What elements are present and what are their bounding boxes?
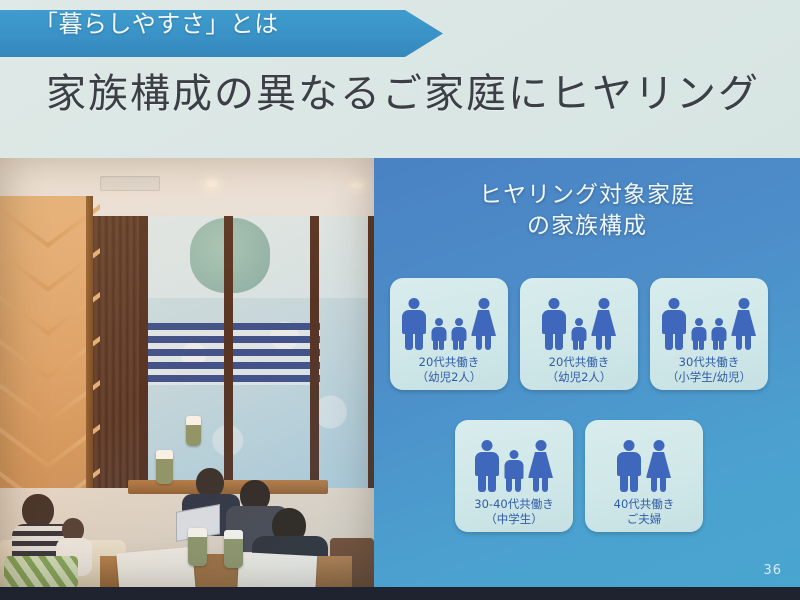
family-pictogram-group <box>617 430 671 492</box>
female-adult-icon <box>528 440 553 492</box>
family-pictogram-group <box>662 288 756 350</box>
female-adult-icon <box>646 440 671 492</box>
family-pictogram-group <box>542 288 616 350</box>
family-composition-panel: ヒヤリング対象家庭 の家族構成 20代共働き （幼児2人） 2 <box>374 158 800 588</box>
slide-bottom-edge <box>0 587 800 600</box>
family-card-label-line-1: 20代共働き <box>417 355 482 370</box>
family-card-label: 30代共働き （小学生/幼児） <box>667 355 751 385</box>
panel-title-line-2: の家族構成 <box>374 211 800 242</box>
family-card: 30-40代共働き （中学生） <box>455 420 573 532</box>
family-card: 40代共働き ご夫婦 <box>585 420 703 532</box>
family-card: 20代共働き （幼児2人） <box>520 278 638 390</box>
section-banner-label: 「暮らしやすさ」とは <box>34 8 279 40</box>
female-adult-icon <box>731 298 756 350</box>
meeting-room-photo <box>0 158 376 588</box>
male-adult-icon <box>662 298 686 350</box>
page-title: 家族構成の異なるご家庭にヒヤリング <box>46 68 760 120</box>
family-card-label-line-2: （小学生/幼児） <box>667 370 751 385</box>
family-card-label-line-1: 40代共働き <box>614 497 675 512</box>
teen-icon <box>504 450 523 492</box>
child-icon <box>451 318 466 350</box>
panel-title: ヒヤリング対象家庭 の家族構成 <box>374 180 800 242</box>
male-adult-icon <box>475 440 499 492</box>
child-icon <box>711 318 726 350</box>
family-card-label-line-2: （幼児2人） <box>547 370 612 385</box>
child-icon <box>691 318 706 350</box>
family-card-label: 30-40代共働き （中学生） <box>474 497 553 527</box>
child-icon <box>431 318 446 350</box>
male-adult-icon <box>402 298 426 350</box>
family-card-label-line-2: （中学生） <box>474 512 553 527</box>
family-card: 20代共働き （幼児2人） <box>390 278 508 390</box>
male-adult-icon <box>617 440 641 492</box>
presentation-slide: 「暮らしやすさ」とは 家族構成の異なるご家庭にヒヤリング <box>0 0 800 600</box>
family-card-label: 20代共働き （幼児2人） <box>547 355 612 385</box>
family-card-label-line-2: ご夫婦 <box>614 512 675 527</box>
family-card-label: 40代共働き ご夫婦 <box>614 497 675 527</box>
family-card-label-line-1: 30-40代共働き <box>474 497 553 512</box>
family-pictogram-group <box>402 288 496 350</box>
family-card-label-line-2: （幼児2人） <box>417 370 482 385</box>
family-card-label: 20代共働き （幼児2人） <box>417 355 482 385</box>
family-pictogram-group <box>475 430 553 492</box>
female-adult-icon <box>591 298 616 350</box>
female-adult-icon <box>471 298 496 350</box>
panel-title-line-1: ヒヤリング対象家庭 <box>374 180 800 211</box>
page-number: 36 <box>763 563 782 578</box>
family-card: 30代共働き （小学生/幼児） <box>650 278 768 390</box>
male-adult-icon <box>542 298 566 350</box>
family-card-label-line-1: 20代共働き <box>547 355 612 370</box>
family-card-label-line-1: 30代共働き <box>667 355 751 370</box>
child-icon <box>571 318 586 350</box>
